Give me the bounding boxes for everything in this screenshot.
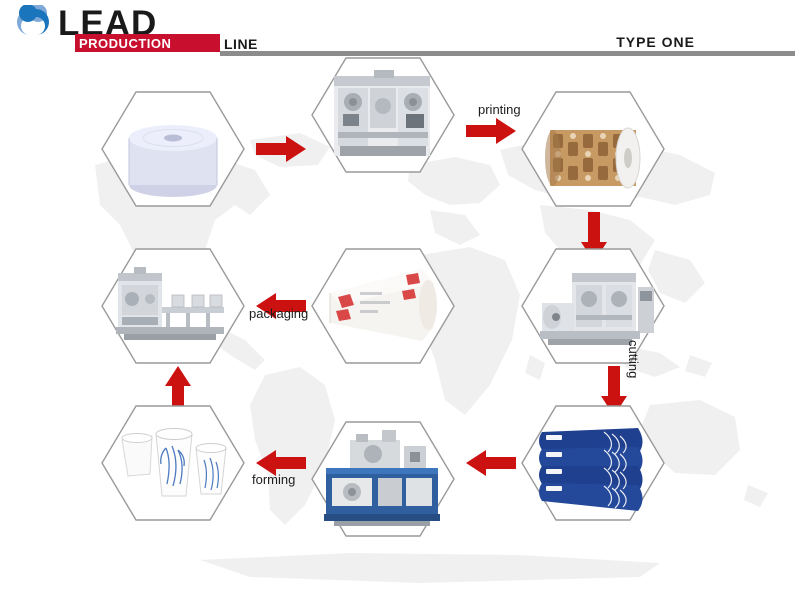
production-banner: PRODUCTION [75,34,220,52]
step-cutting-machine[interactable] [520,247,666,365]
step-finished-cups[interactable] [100,404,246,522]
arrow-printing-to-printed-roll [466,118,516,144]
paper-roll-art [129,125,217,197]
arrow-paper-to-printing [256,136,306,162]
type-label: TYPE ONE [616,34,695,50]
printing-machine-art [334,70,430,156]
header-divider-bar [220,51,795,56]
line-label: LINE [224,36,258,52]
printed-roll-art [545,128,640,188]
label-forming: forming [252,472,295,487]
production-label: PRODUCTION [75,34,220,51]
diagram-page: LEAD PRODUCTION LINE TYPE ONE [0,0,800,600]
arrow-forming-to-blanks [466,450,516,476]
label-cutting: cutting [626,340,641,378]
step-paper-roll[interactable] [100,90,246,208]
step-packing-machine[interactable] [100,247,246,365]
step-printed-roll[interactable] [520,90,666,208]
step-printing-machine[interactable] [310,56,456,174]
step-forming-machine[interactable] [310,420,456,538]
label-printing: printing [478,102,521,117]
step-cut-fan-blanks[interactable] [520,404,666,522]
fan-blanks-art [539,428,643,511]
page-header: LEAD PRODUCTION LINE TYPE ONE [0,0,800,60]
step-packed-sleeves[interactable] [310,247,456,365]
label-packaging: packaging [249,306,308,321]
lead-logo-icon [10,5,58,39]
